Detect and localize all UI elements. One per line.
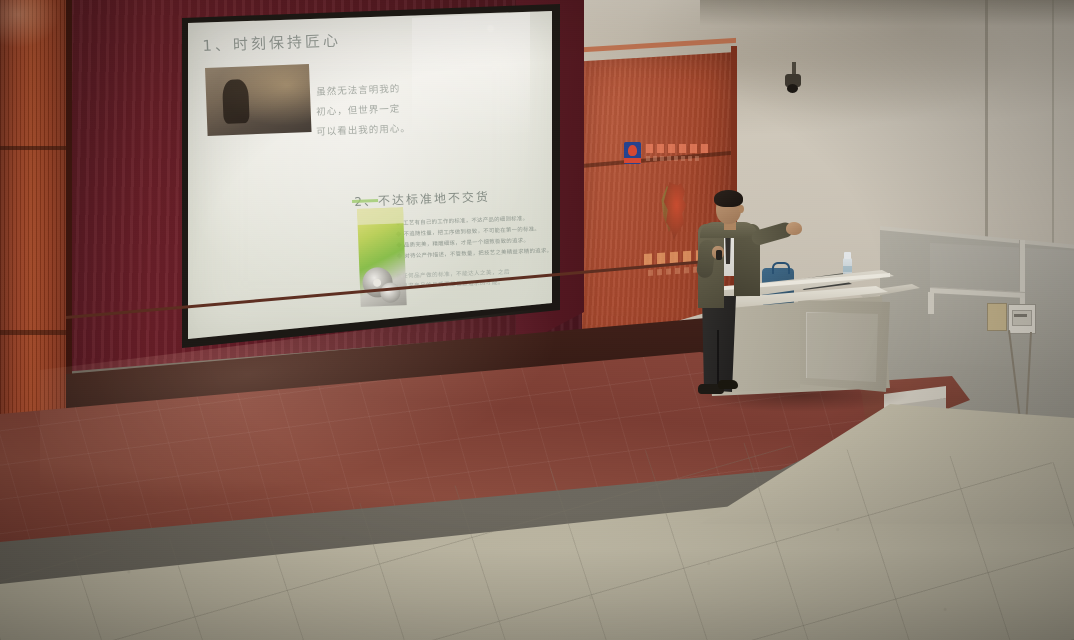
wall-conduit-elbow — [928, 292, 934, 314]
wood-panelling-grain — [0, 0, 70, 430]
wood-panel-highlight — [0, 0, 60, 48]
breaker-box-face — [1012, 310, 1032, 326]
slide-2-bullet-item: 对待公产作描述，不管数量，把技艺之美精益求精的追求。 — [397, 246, 552, 260]
presenter-remote-clicker[interactable] — [716, 250, 722, 260]
slide-1-body-line-3: 可以看出我的用心。 — [316, 121, 411, 141]
slide-1-body-line-1: 虽然无法言明我的 — [316, 82, 401, 101]
presenter-hair — [714, 190, 743, 207]
presenter-right-hand — [786, 222, 802, 235]
presenter-shoe-right — [718, 380, 738, 389]
wood-panel-seam-lower — [0, 330, 70, 335]
water-bottle-label — [843, 266, 852, 272]
banner-logo-mark-icon — [628, 145, 637, 156]
banner-headline-text — [646, 144, 708, 153]
banner-logo-wordmark — [624, 158, 641, 163]
slide-1-image-figure — [222, 79, 250, 124]
slide-1-image-highlight — [205, 64, 312, 136]
blue-bag-handle — [772, 262, 790, 274]
security-camera-lens — [787, 84, 798, 93]
slide-1-heading: 1、时刻保持匠心 — [202, 30, 341, 56]
banner-headline-subline — [646, 156, 700, 161]
floor-speckle — [0, 470, 1074, 640]
wall-notice-card — [987, 303, 1007, 331]
slide-2-bullet-list: 工艺有自己的工作的标准，不达产品的细则标准。 不追随性量，把工序做到极致，不可能… — [396, 213, 553, 263]
lectern-front-inset — [806, 312, 880, 386]
presenter-trousers — [702, 296, 736, 392]
wood-panel-edge — [66, 0, 72, 420]
lecture-hall-photo: 1、时刻保持匠心 虽然无法言明我的 初心，但世界一定 可以看出我的用心。 2、不… — [0, 0, 1074, 640]
wall-seam-secondary — [1052, 0, 1054, 270]
slide-2-image-band — [357, 207, 404, 225]
water-bottle-cap[interactable] — [844, 252, 851, 259]
breaker-switch[interactable] — [1014, 314, 1027, 317]
slide-1-body-line-2: 初心，但世界一定 — [316, 102, 401, 121]
ceiling-shadow — [700, 0, 1074, 26]
presenter-ear — [739, 205, 744, 213]
wood-panel-seam-upper — [0, 146, 70, 150]
bullet-text: 对待公产作描述，不管数量，把技艺之美精益求精的追求。 — [404, 246, 552, 260]
